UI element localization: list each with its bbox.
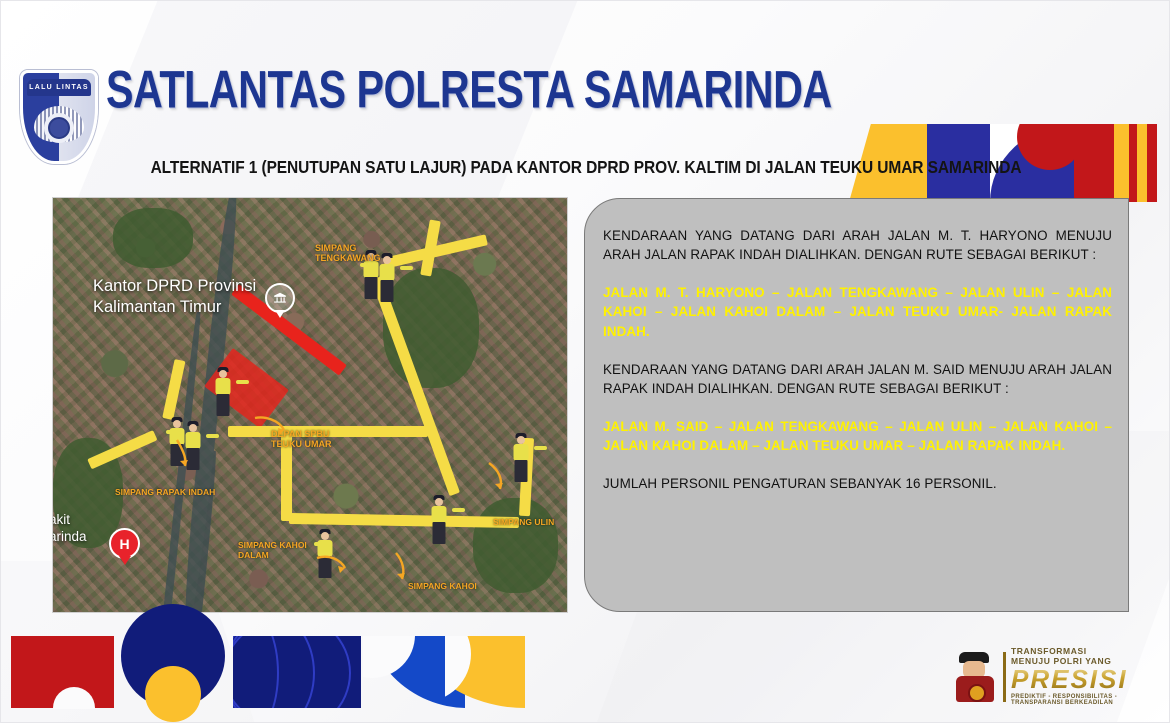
badge-band-text: LALU LINTAS [27,79,91,96]
slide-subtitle: ALTERNATIF 1 (PENUTUPAN SATU LAJUR) PADA… [1,158,1170,179]
direction-arrow-icon [483,460,513,494]
hospital-marker-icon[interactable]: H [109,528,140,559]
footer-graphic-yellow-arc [445,636,541,708]
panel-paragraph-2: KENDARAAN YANG DATANG DARI ARAH JALAN M.… [603,360,1112,398]
footer-graphic-rays [233,636,361,708]
presentation-slide: LALU LINTAS SATLANTAS POLRESTA SAMARINDA… [0,0,1170,723]
map-poi-label: Kantor DPRD Provinsi Kalimantan Timur [93,276,256,317]
presisi-wordmark: PRESISI [1011,664,1128,695]
direction-arrow-icon [311,552,351,578]
map-label-simpang-tengkawang: SIMPANG TENGKAWANG [315,243,381,264]
panel-personnel-count: JUMLAH PERSONIL PENGATURAN SEBANYAK 16 P… [603,474,1112,493]
hospital-label: akit arinda [52,512,87,546]
direction-arrow-icon [251,414,291,440]
footer-graphic-red-block [11,636,114,708]
vegetation-area [113,208,193,268]
direction-arrow-icon [389,550,419,584]
map-label-simpang-ulin: SIMPANG ULIN [493,518,554,528]
slide-footer: TRANSFORMASI MENUJU POLRI YANG PRESISI P… [1,622,1170,722]
footer-graphic-circle [121,604,225,708]
panel-route-2: JALAN M. SAID – JALAN TENGKAWANG – JALAN… [603,417,1112,455]
police-officer-mascot-icon [953,652,997,704]
panel-route-1: JALAN M. T. HARYONO – JALAN TENGKAWANG –… [603,283,1112,340]
presisi-logo: TRANSFORMASI MENUJU POLRI YANG PRESISI P… [953,644,1153,706]
presisi-tagline: PREDIKTIF - RESPONSIBILITAS - TRANSPARAN… [1011,694,1153,706]
direction-arrow-icon [171,436,205,470]
page-title: SATLANTAS POLRESTA SAMARINDA [106,61,832,121]
instruction-panel: KENDARAAN YANG DATANG DARI ARAH JALAN M.… [584,198,1129,612]
vegetation-area [473,498,558,593]
map-label-simpang-kahoi-dalam: SIMPANG KAHOI DALAM [238,541,307,561]
map-label-simpang-rapak-indah: SIMPANG RAPAK INDAH [115,488,215,498]
steering-wheel-icon [44,113,74,143]
lalu-lintas-traffic-police-badge: LALU LINTAS [20,70,98,164]
satellite-map[interactable]: Kantor DPRD Provinsi Kalimantan Timur H … [52,197,568,613]
slide-header: LALU LINTAS SATLANTAS POLRESTA SAMARINDA [1,61,1170,153]
presisi-line-1: TRANSFORMASI [1011,646,1087,656]
government-building-icon[interactable] [265,283,295,313]
panel-paragraph-1: KENDARAAN YANG DATANG DARI ARAH JALAN M.… [603,226,1112,264]
